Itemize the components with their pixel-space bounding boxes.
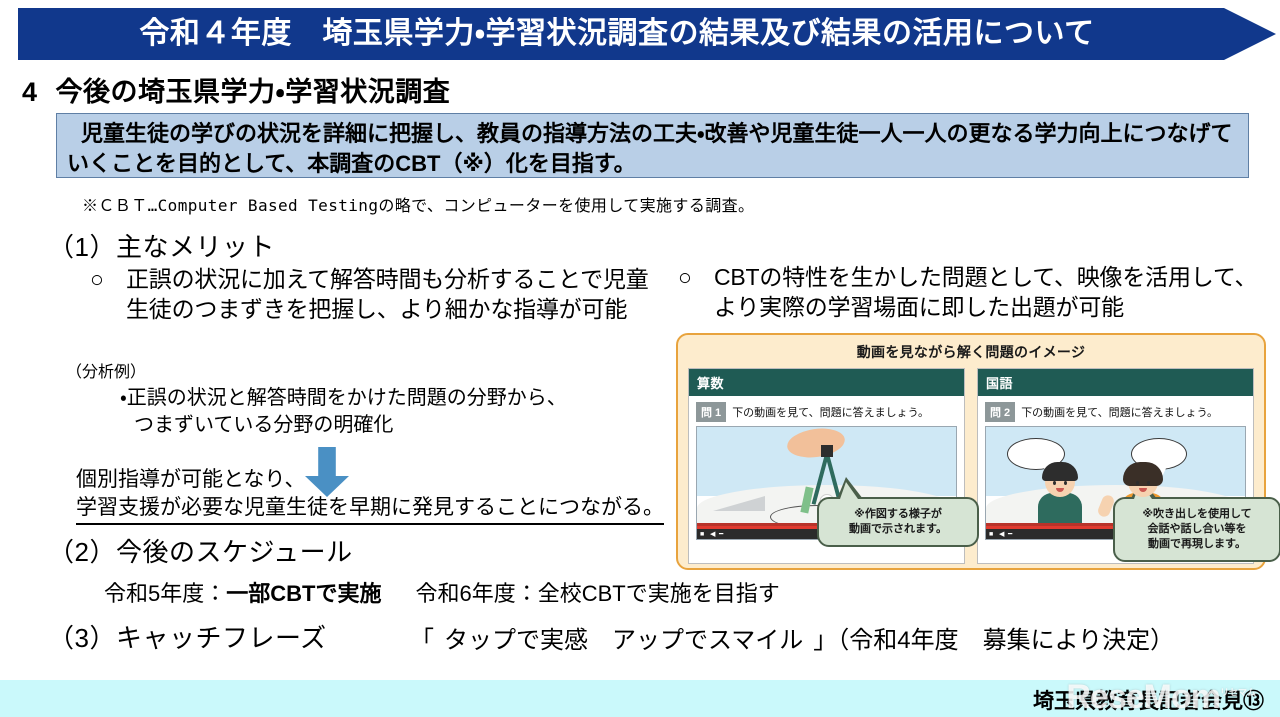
merit-left-text: 正誤の状況に加えて解答時間も分析することで児童生徒のつまずきを把握し、より細かな… — [126, 264, 670, 324]
callout-math: ※作図する様子が 動画で示されます。 — [817, 497, 979, 547]
analysis-line-2: つまずいている分野の明確化 — [134, 412, 660, 439]
banner-title: 令和４年度 埼玉県学力・学習状況調査の結果及び結果の活用について — [18, 8, 1216, 60]
compass-hinge-icon — [821, 445, 833, 457]
paper-triangle-shape — [713, 496, 765, 511]
schedule-line: 令和5年度：一部CBTで実施令和6年度：全校CBTで実施を目指す — [104, 576, 780, 608]
student-eye-right — [1147, 481, 1150, 485]
merit-left-bullet: ○ 正誤の状況に加えて解答時間も分析することで児童生徒のつまずきを把握し、より細… — [90, 264, 670, 324]
play-icon[interactable]: ◀ — [999, 531, 1004, 538]
callout-math-line-2: 動画で示されます。 — [829, 522, 967, 537]
statement-box: 児童生徒の学びの状況を詳細に把握し、教員の指導方法の工夫・改善や児童生徒一人一人… — [56, 113, 1249, 178]
schedule-item1-label: 令和5年度： — [104, 581, 226, 606]
play-icon[interactable]: ◀ — [710, 531, 715, 538]
merit-right-text: CBTの特性を生かした問題として、映像を活用して、より実際の学習場面に即した出題… — [714, 262, 1263, 322]
student-eye-right — [1064, 481, 1067, 485]
catchphrase-note: （令和4年度 募集により決定） — [837, 627, 1174, 654]
schedule-heading: （2）今後のスケジュール — [48, 532, 353, 569]
footer-text: 埼玉県教育長記者会見⑬ — [1033, 685, 1264, 715]
question-text: 下の動画を見て、問題に答えましょう。 — [732, 404, 929, 420]
footer-bar: 埼玉県教育長記者会見⑬ — [0, 680, 1280, 717]
bullet-marker-icon: ○ — [678, 262, 692, 292]
merit-conclusion: 個別指導が可能となり、 学習支援が必要な児童生徒を早期に発見することにつながる。 — [76, 466, 664, 525]
section-heading: 4今後の埼玉県学力・学習状況調査 — [22, 70, 450, 109]
panel-japanese-question: 問 2 下の動画を見て、問題に答えましょう。 — [978, 396, 1253, 426]
merit-right-bullet: ○ CBTの特性を生かした問題として、映像を活用して、より実際の学習場面に即した… — [678, 262, 1263, 322]
conclusion-line-1: 個別指導が可能となり、 — [76, 466, 664, 494]
callout-japanese: ※吹き出しを使用して 会話や話し合い等を 動画で再現します。 — [1113, 497, 1280, 562]
volume-icon[interactable]: ━ — [719, 531, 723, 538]
panel-japanese-subject: 国語 — [978, 369, 1253, 396]
question-text: 下の動画を見て、問題に答えましょう。 — [1021, 404, 1218, 420]
question-number-badge: 問 1 — [696, 402, 726, 422]
callout-tail-inner-icon — [840, 482, 858, 499]
catchphrase-line: 「タップで実感 アップでスマイル」（令和4年度 募集により決定） — [410, 620, 1174, 655]
schedule-item2-label: 令和6年度： — [415, 581, 537, 606]
panel-math-question: 問 1 下の動画を見て、問題に答えましょう。 — [689, 396, 964, 426]
student-hair — [1042, 462, 1078, 481]
student-eye-left — [1053, 481, 1056, 485]
section-number: 4 — [22, 77, 38, 107]
panel-math-subject: 算数 — [689, 369, 964, 396]
bullet-marker-icon: ○ — [90, 264, 104, 294]
conclusion-line-2: 学習支援が必要な児童生徒を早期に発見することにつながる。 — [76, 494, 664, 525]
catchphrase-close-quote: 」 — [813, 627, 837, 654]
analysis-line-1: ・正誤の状況と解答時間をかけた問題の分野から、 — [120, 387, 567, 409]
callout-japanese-line-2: 会話や話し合い等を — [1125, 522, 1269, 537]
volume-icon[interactable]: ━ — [1008, 531, 1012, 538]
analysis-example-body: ・正誤の状況と解答時間をかけた問題の分野から、 つまずいている分野の明確化 — [120, 385, 660, 439]
header-banner: 令和４年度 埼玉県学力・学習状況調査の結果及び結果の活用について — [18, 8, 1276, 60]
callout-japanese-line-3: 動画で再現します。 — [1125, 537, 1269, 552]
stop-icon[interactable]: ■ — [989, 531, 993, 538]
student-boy-illustration — [1038, 467, 1082, 529]
catchphrase-heading: （3）キャッチフレーズ — [48, 618, 327, 655]
question-number-badge: 問 2 — [985, 402, 1015, 422]
cbt-footnote: ※ＣＢＴ…Computer Based Testingの略で、コンピューターを使… — [82, 192, 754, 216]
catchphrase-text: タップで実感 アップでスマイル — [444, 627, 803, 654]
student-mouth — [1139, 488, 1147, 492]
student-hair — [1123, 462, 1163, 486]
statement-text: 児童生徒の学びの状況を詳細に把握し、教員の指導方法の工夫・改善や児童生徒一人一人… — [67, 119, 1238, 179]
schedule-item2-value: 全校CBTで実施を目指す — [538, 581, 780, 606]
student-head — [1128, 467, 1158, 497]
section-title: 今後の埼玉県学力・学習状況調査 — [56, 77, 451, 107]
callout-japanese-line-1: ※吹き出しを使用して — [1125, 507, 1269, 522]
illustration-title: 動画を見ながら解く問題のイメージ — [688, 342, 1254, 362]
stop-icon[interactable]: ■ — [700, 531, 704, 538]
catchphrase-open-quote: 「 — [410, 627, 434, 654]
callout-math-line-1: ※作図する様子が — [829, 507, 967, 522]
merits-heading: （1）主なメリット — [48, 227, 275, 264]
student-eye-left — [1136, 481, 1139, 485]
student-mouth — [1056, 488, 1064, 492]
analysis-example-label: （分析例） — [66, 358, 146, 382]
student-head — [1045, 467, 1075, 497]
schedule-item1-value: 一部CBTで実施 — [226, 581, 381, 606]
